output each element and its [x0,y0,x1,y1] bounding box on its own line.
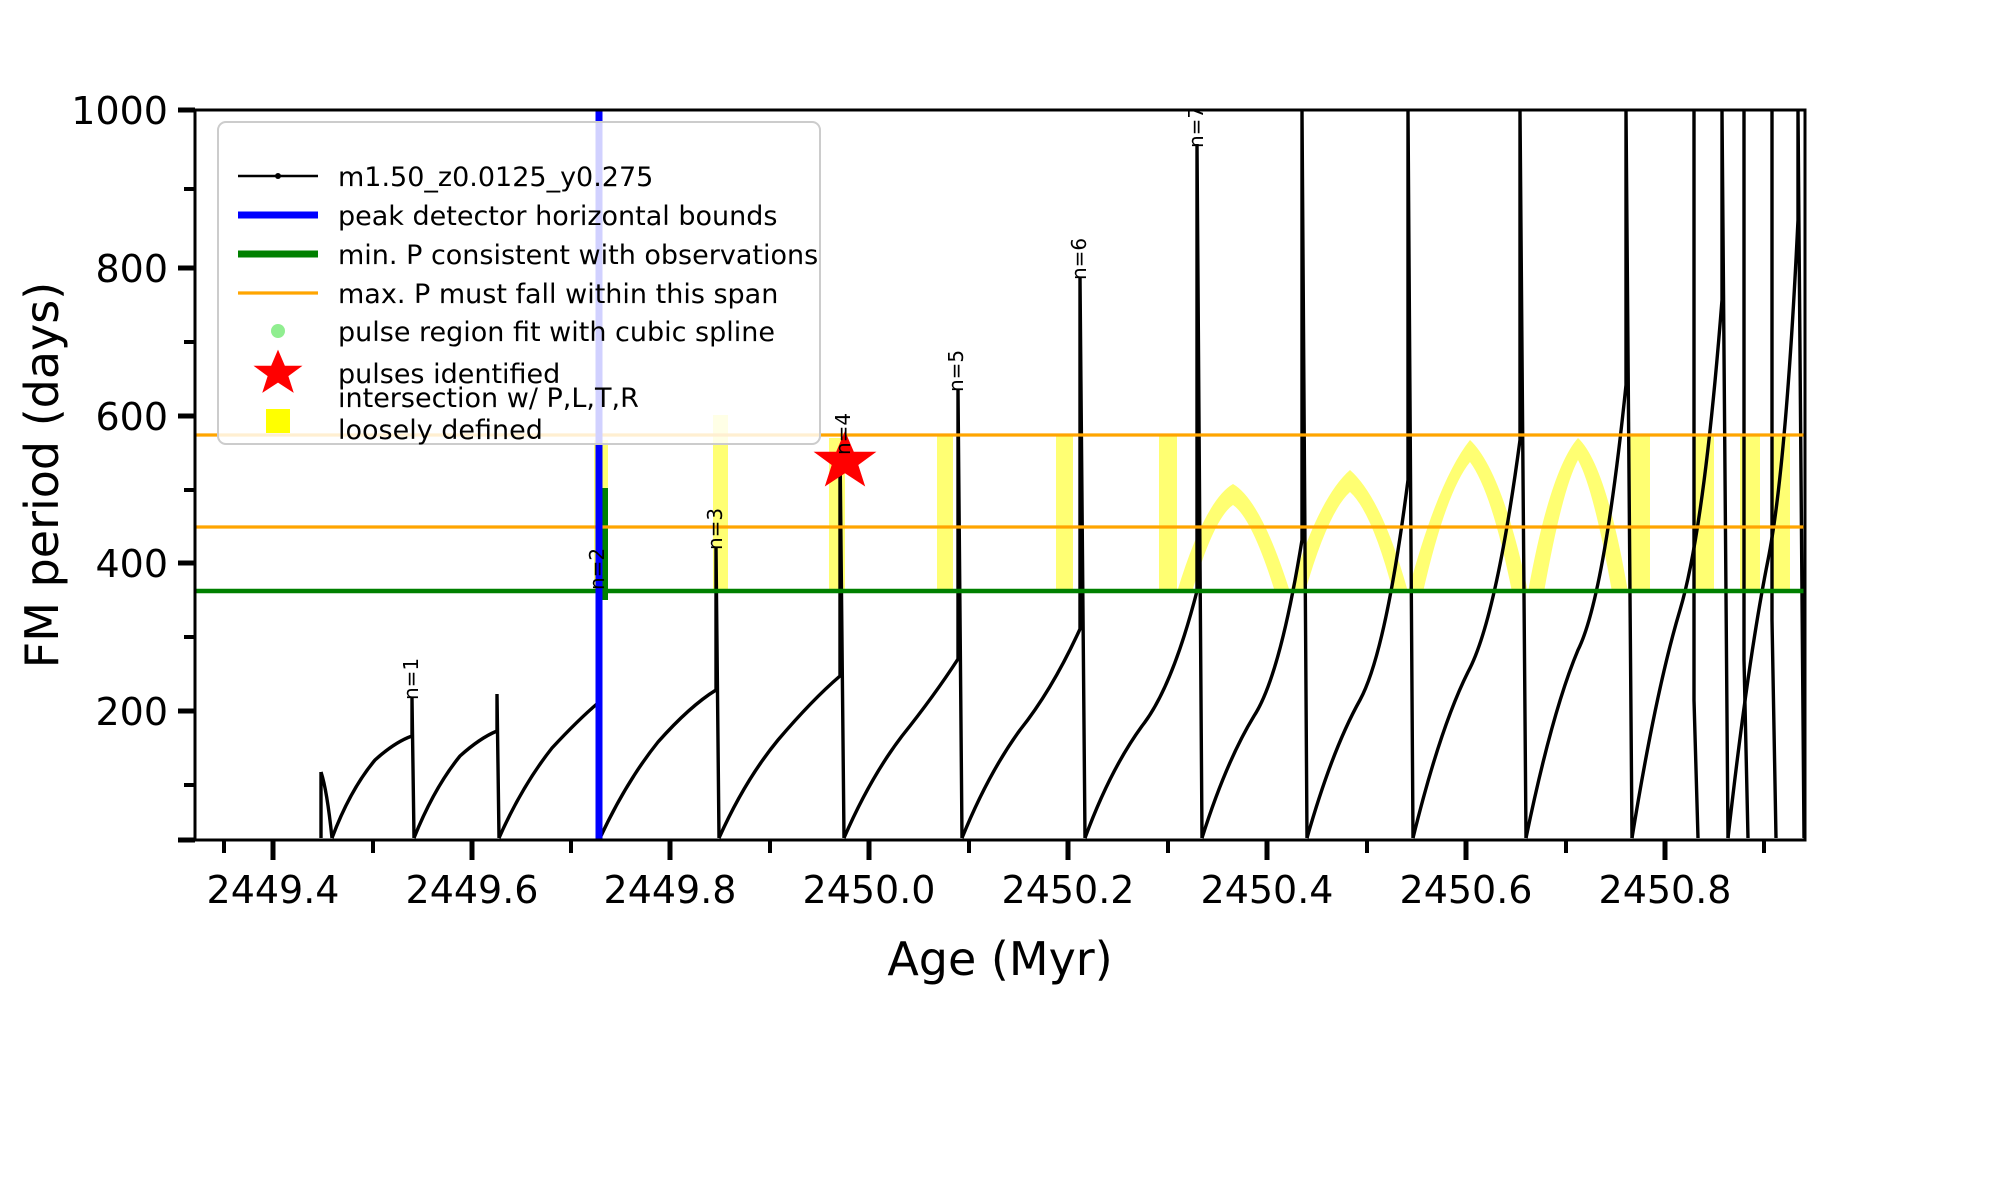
legend-label-intersection-line2: loosely defined [338,415,543,446]
x-tick-7: 2450.8 [1599,868,1732,912]
x-tick-0: 2449.4 [207,868,340,912]
x-tick-4: 2450.2 [1002,868,1135,912]
x-axis-label: Age (Myr) [887,932,1112,986]
x-axis-tick-labels: 2449.4 2449.6 2449.8 2450.0 2450.2 2450.… [207,868,1732,912]
y-tick-800: 800 [95,247,168,291]
legend-label-spline: pulse region fit with cubic spline [338,317,775,348]
x-tick-2: 2449.8 [604,868,737,912]
legend-entry-spline: pulse region fit with cubic spline [271,317,775,348]
legend-dot-icon-model [275,173,281,179]
x-tick-6: 2450.6 [1400,868,1533,912]
y-axis-tick-labels: 1000 800 600 400 200 [71,89,168,734]
x-tick-1: 2449.6 [406,868,539,912]
legend-label-intersection-line1: intersection w/ P,L,T,R [338,383,639,414]
legend-label-max-period: max. P must fall within this span [338,279,778,310]
pulse-label-n1: n=1 [399,658,423,700]
y-tick-400: 400 [95,542,168,586]
y-tick-600: 600 [95,395,168,439]
pulse-label-n4: n=4 [831,413,855,455]
legend-label-peak-bounds: peak detector horizontal bounds [338,201,777,232]
legend-label-min-period: min. P consistent with observations [338,240,818,271]
y-axis-label: FM period (days) [15,282,69,668]
x-tick-5: 2450.4 [1201,868,1334,912]
plot-canvas: n=1 n=2 n=3 n=4 n=5 n=6 n=7 [0,0,2000,1200]
pulse-label-n2: n=2 [585,548,609,590]
legend-label-model: m1.50_z0.0125_y0.275 [338,162,653,193]
pulse-label-n3: n=3 [703,508,727,550]
legend-dot-icon-spline [271,324,285,338]
pulse-label-n5: n=5 [944,350,968,392]
pulse-label-n7: n=7 [1184,106,1208,148]
x-tick-3: 2450.0 [803,868,936,912]
x-axis-ticks [224,840,1764,860]
legend-square-icon-intersection [266,409,290,433]
y-tick-200: 200 [95,690,168,734]
y-tick-1000: 1000 [71,89,168,133]
legend: m1.50_z0.0125_y0.275 peak detector horiz… [218,122,820,446]
pulse-label-n6: n=6 [1067,238,1091,280]
figure-root: n=1 n=2 n=3 n=4 n=5 n=6 n=7 [0,0,2000,1200]
y-axis-ticks [178,110,195,840]
